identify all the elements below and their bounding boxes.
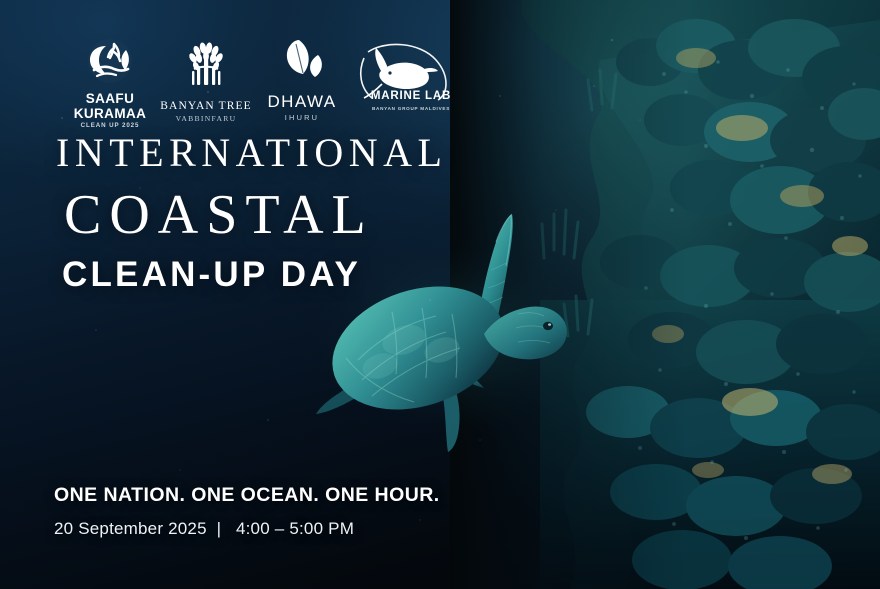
two-leaves-icon: [275, 38, 329, 89]
logo-marine-lab-sub: BANYAN GROUP MALDIVES: [368, 106, 454, 111]
headline-line-coastal: COASTAL: [64, 187, 447, 243]
logo-banyan-tree: BANYAN TREE VABBINFARU: [158, 38, 254, 124]
partner-logo-row: SAAFU KURAMAA CLEAN UP 2025: [62, 38, 454, 130]
tagline-text: ONE NATION. ONE OCEAN. ONE HOUR.: [54, 484, 440, 507]
logo-marine-lab: MARINE LAB BANYAN GROUP MALDIVES: [350, 38, 454, 110]
logo-banyan-tree-sub: VABBINFARU: [176, 115, 237, 123]
poster-canvas: SAAFU KURAMAA CLEAN UP 2025: [0, 0, 880, 589]
headline-line-cleanup-day: CLEAN-UP DAY: [62, 257, 447, 292]
logo-banyan-tree-name: BANYAN TREE: [160, 100, 251, 112]
coral-leaf-emblem-icon: [84, 38, 136, 89]
logo-marine-lab-name: MARINE LAB: [371, 90, 451, 102]
logo-dhawa-sub: IHURU: [285, 114, 319, 122]
headline-block: INTERNATIONAL COASTAL CLEAN-UP DAY: [56, 133, 447, 292]
footer-block: ONE NATION. ONE OCEAN. ONE HOUR. 20 Sept…: [54, 484, 440, 539]
logo-saafu-kuramaa-name: SAAFU KURAMAA: [74, 92, 147, 121]
banyan-tree-icon: [182, 40, 230, 93]
logo-saafu-kuramaa: SAAFU KURAMAA CLEAN UP 2025: [62, 38, 158, 130]
event-datetime-text: 20 September 2025 | 4:00 – 5:00 PM: [54, 519, 440, 539]
headline-line-international: INTERNATIONAL: [56, 133, 447, 173]
logo-saafu-kuramaa-sub: CLEAN UP 2025: [81, 123, 140, 130]
logo-dhawa: DHAWA IHURU: [254, 38, 350, 123]
logo-dhawa-name: DHAWA: [267, 93, 336, 111]
